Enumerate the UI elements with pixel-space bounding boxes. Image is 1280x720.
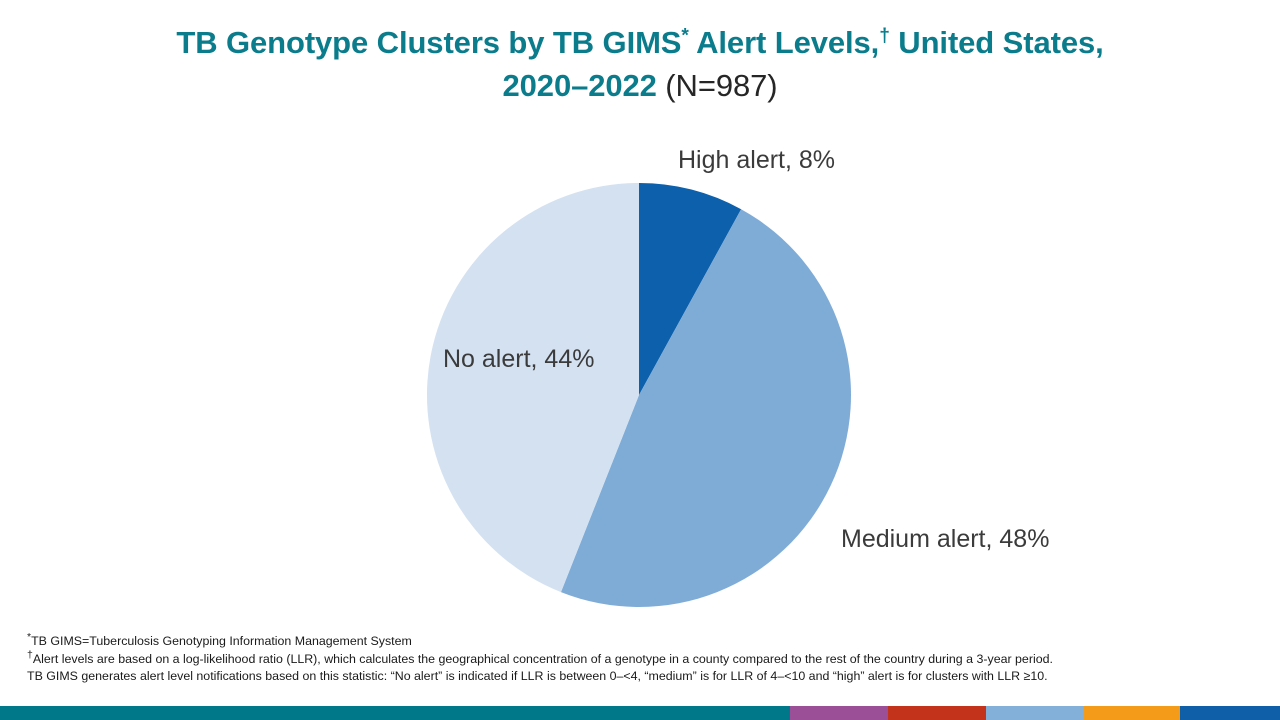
title-sample-size: (N=987) xyxy=(657,68,778,103)
bottom-bar-segment-light-blue xyxy=(986,706,1083,720)
pie-slice-high-alert[interactable] xyxy=(639,183,741,395)
title-year-range: 2020–2022 xyxy=(503,68,657,103)
pie-slice-no-alert[interactable] xyxy=(427,183,639,592)
pie-slice-group xyxy=(427,183,851,607)
slide-canvas: TB Genotype Clusters by TB GIMS* Alert L… xyxy=(0,0,1280,720)
footnote-line-1: *TB GIMS=Tuberculosis Genotyping Informa… xyxy=(27,633,1267,651)
footnote-text-3: TB GIMS generates alert level notificati… xyxy=(27,669,1048,683)
bottom-color-bar xyxy=(0,706,1280,720)
title-text-part-2: Alert Levels, xyxy=(689,25,879,60)
footnote-line-3: TB GIMS generates alert level notificati… xyxy=(27,668,1267,686)
footnote-text-2: Alert levels are based on a log-likeliho… xyxy=(33,652,1053,666)
pie-label-medium-alert: Medium alert, 48% xyxy=(841,525,1049,554)
bottom-bar-segment-purple xyxy=(790,706,888,720)
bottom-bar-segment-teal xyxy=(0,706,790,720)
pie-chart xyxy=(424,180,854,610)
footnote-line-2: †Alert levels are based on a log-likelih… xyxy=(27,651,1267,669)
footnotes-block: *TB GIMS=Tuberculosis Genotyping Informa… xyxy=(27,633,1267,686)
pie-chart-area: High alert, 8% Medium alert, 48% No aler… xyxy=(0,0,1280,720)
footnote-text-1: TB GIMS=Tuberculosis Genotyping Informat… xyxy=(31,634,412,648)
title-line-1: TB Genotype Clusters by TB GIMS* Alert L… xyxy=(176,25,1103,60)
pie-slice-medium-alert[interactable] xyxy=(561,209,851,607)
title-line-2: 2020–2022 (N=987) xyxy=(503,68,778,103)
bottom-bar-segment-orange xyxy=(1083,706,1180,720)
pie-label-no-alert: No alert, 44% xyxy=(443,345,594,374)
page-title: TB Genotype Clusters by TB GIMS* Alert L… xyxy=(110,22,1170,108)
title-footnote-marker-dagger: † xyxy=(879,26,890,47)
title-footnote-marker-asterisk: * xyxy=(681,26,688,47)
title-text-part-1: TB Genotype Clusters by TB GIMS xyxy=(176,25,681,60)
pie-label-high-alert: High alert, 8% xyxy=(678,146,835,175)
bottom-bar-segment-red xyxy=(888,706,986,720)
title-text-part-3: United States, xyxy=(890,25,1104,60)
bottom-bar-segment-dark-blue xyxy=(1180,706,1280,720)
